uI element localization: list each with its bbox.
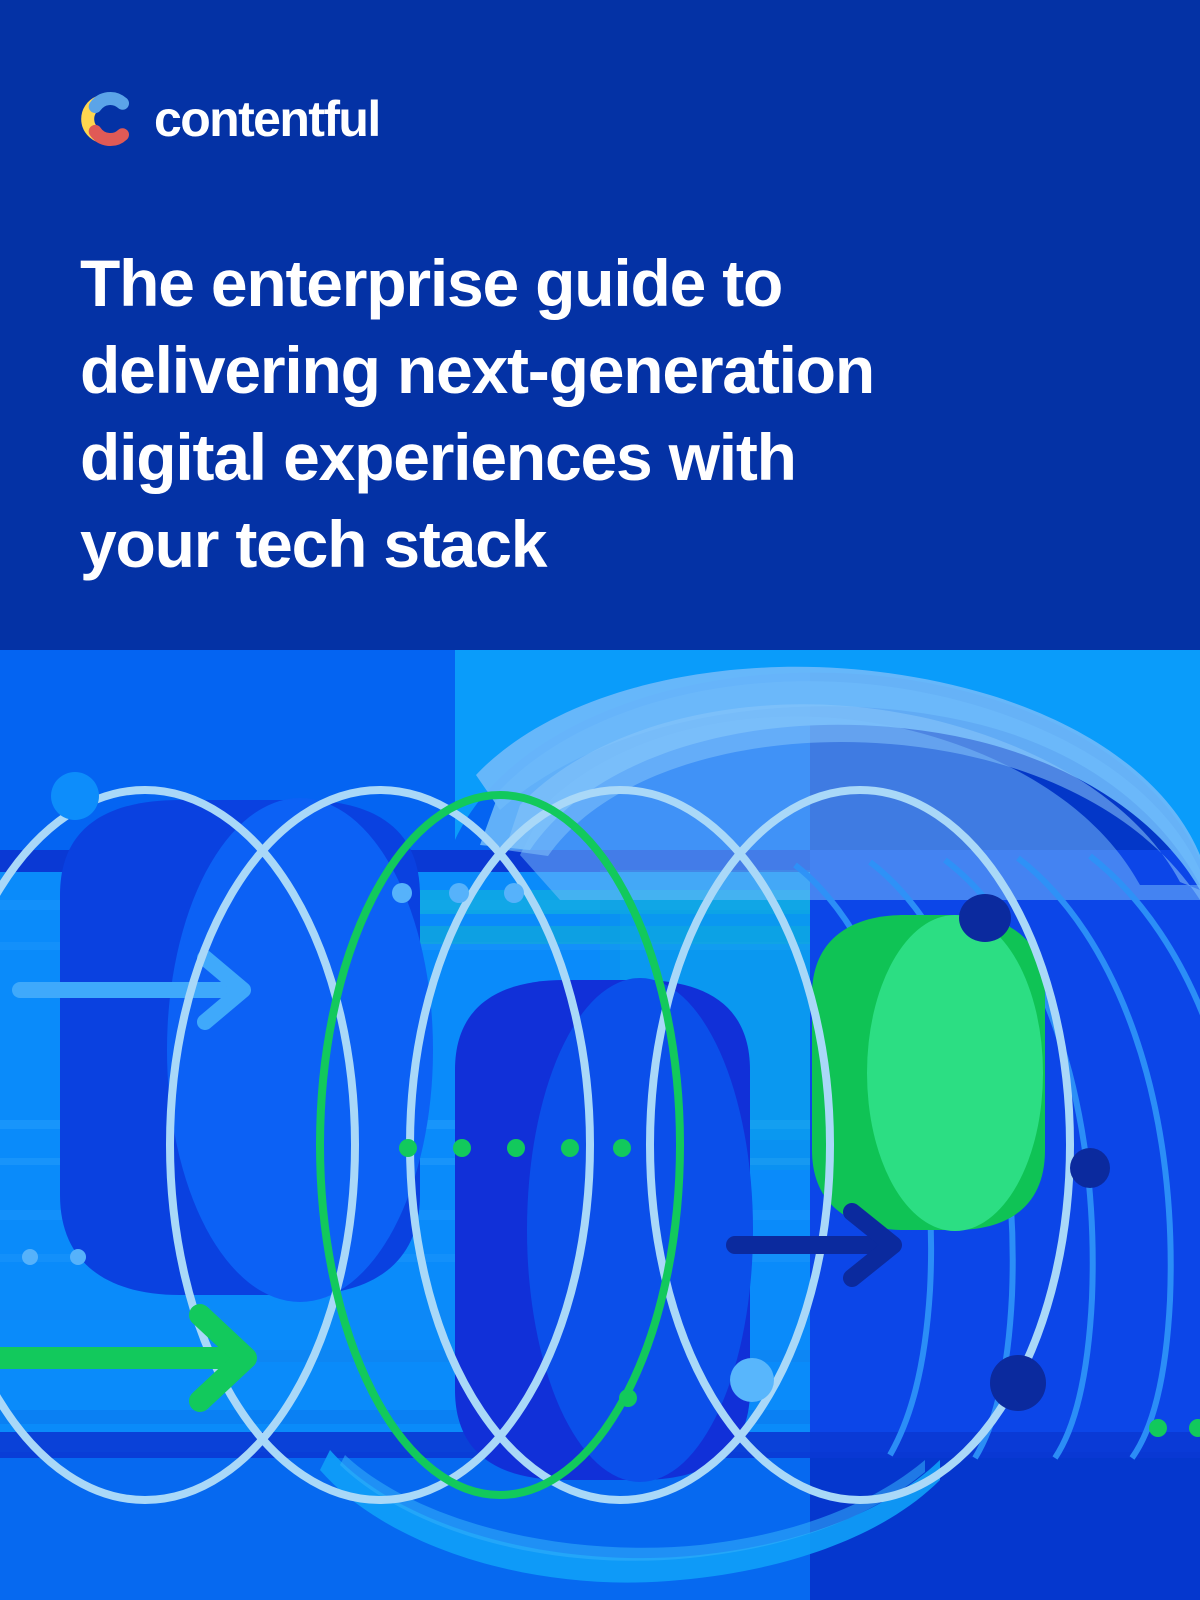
cylinder-left-face — [167, 798, 433, 1302]
contentful-wordmark: contentful — [154, 94, 380, 144]
abstract-rings-cylinders-artwork — [0, 650, 1200, 1600]
title-line-4: your tech stack — [80, 507, 546, 581]
cylinder-middle-navy — [455, 978, 753, 1482]
cylinder-right-green — [812, 915, 1045, 1231]
cylinder-right-face — [867, 915, 1043, 1231]
title-line-3: digital experiences with — [80, 420, 796, 494]
illustration-canvas — [0, 650, 1200, 1600]
contentful-c-icon — [78, 88, 140, 150]
dot-light-blue-right — [730, 1358, 774, 1402]
title-line-1: The enterprise guide to — [80, 246, 782, 320]
contentful-logo: contentful — [78, 88, 380, 150]
cover-header: contentful The enterprise guide todelive… — [0, 0, 1200, 650]
title-line-2: delivering next-generation — [80, 333, 874, 407]
dot-large-light-blue — [51, 772, 99, 820]
dot-navy-near-green — [959, 894, 1011, 942]
ebook-cover-page: contentful The enterprise guide todelive… — [0, 0, 1200, 1600]
page-title: The enterprise guide todelivering next-g… — [80, 240, 1000, 588]
